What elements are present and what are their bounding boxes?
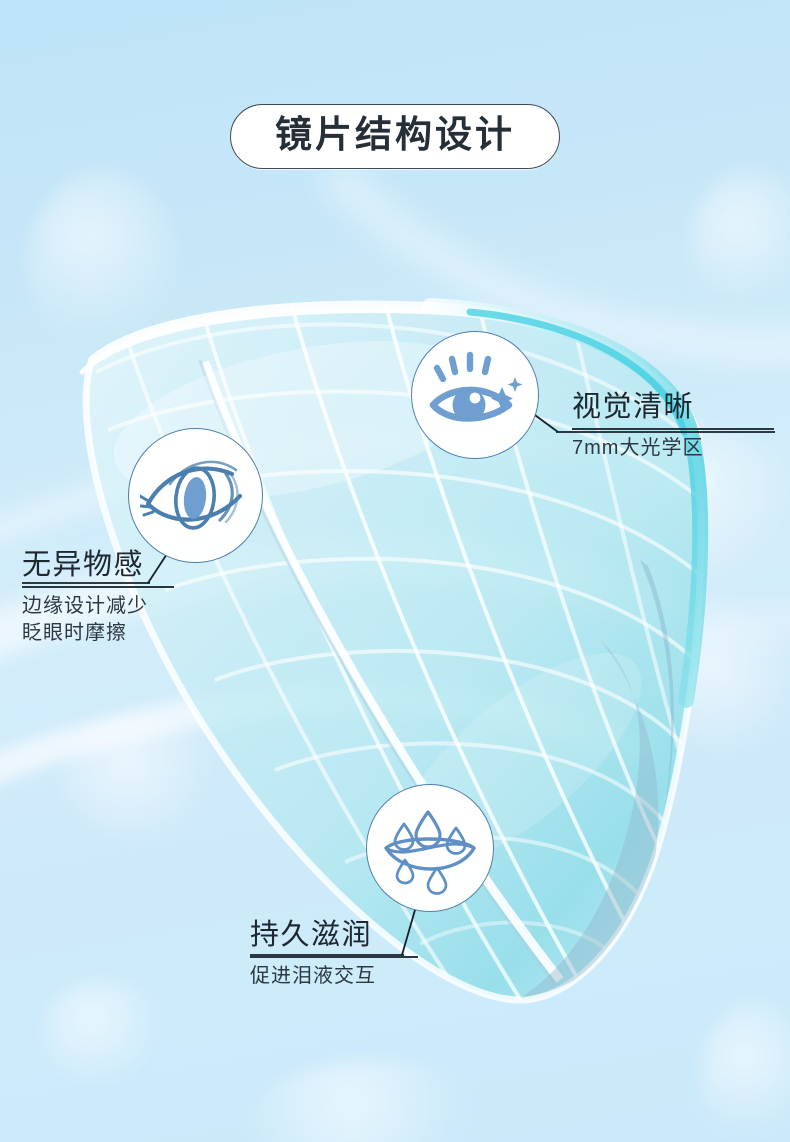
callout-comfort-subtitle-line2: 眨眼时摩擦: [22, 620, 174, 647]
callout-comfort-rule: [22, 586, 174, 588]
callout-moisture-title: 持久滋润: [250, 918, 418, 952]
eye-lens-outline-icon: [140, 440, 252, 552]
callout-vision: 视觉清晰 7mm大光学区: [572, 390, 774, 462]
callout-moisture-rule: [250, 956, 418, 958]
callout-comfort-subtitle-line1: 边缘设计减少: [22, 593, 174, 620]
page-title: 镜片结构设计: [275, 114, 515, 155]
page-title-badge: 镜片结构设计: [230, 104, 560, 169]
callout-moisture-subtitle: 促进泪液交互: [250, 963, 418, 990]
callout-comfort-title: 无异物感: [22, 548, 174, 582]
lens-water-drops-icon: [378, 796, 482, 900]
icon-circle-vision[interactable]: [411, 331, 539, 459]
callout-comfort: 无异物感 边缘设计减少 眨眼时摩擦: [22, 548, 174, 647]
icon-circle-comfort[interactable]: [128, 428, 263, 563]
icon-circle-moisture[interactable]: [366, 784, 494, 912]
callout-vision-subtitle: 7mm大光学区: [572, 435, 774, 462]
eye-sparkle-icon: [423, 343, 527, 447]
promo-graphic: 镜片结构设计: [0, 0, 790, 1142]
callout-moisture: 持久滋润 促进泪液交互: [250, 918, 418, 990]
callout-vision-rule: [572, 428, 774, 430]
callout-vision-title: 视觉清晰: [572, 390, 774, 424]
